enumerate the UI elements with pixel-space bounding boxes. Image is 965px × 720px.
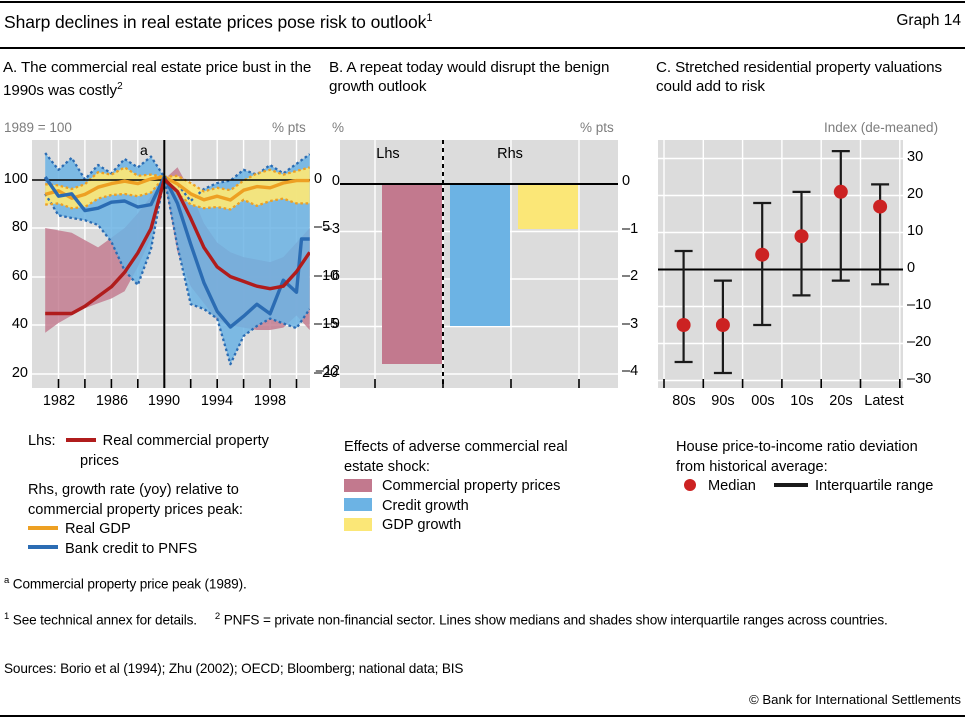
- panel-b-right-tick-3: –3: [622, 316, 658, 332]
- panel-b-left-tick-2: –6: [312, 268, 340, 284]
- footnote-sources: Sources: Borio et al (1994); Zhu (2002);…: [4, 660, 954, 678]
- legend-a-rhs-heading-2: commercial property prices peak:: [28, 501, 328, 521]
- panel-a-x-label-0: 1982: [33, 393, 85, 409]
- panel-c-right-tick-0: 30: [907, 149, 959, 165]
- panel-b-title: B. A repeat today would disrupt the beni…: [329, 58, 643, 96]
- bottom-rule: [0, 715, 965, 717]
- panel-a-x-label-4: 1998: [244, 393, 296, 409]
- footnote-2-text: PNFS = private non-financial sector. Lin…: [224, 613, 888, 628]
- panel-b-legend: Effects of adverse commercial real estat…: [344, 438, 644, 536]
- legend-a-item-credit: Bank credit to PNFS: [28, 540, 328, 560]
- panel-a-legend: Lhs: Real commercial property prices Rhs…: [28, 432, 328, 559]
- panel-a-left-tick-1: 80: [0, 219, 28, 235]
- panel-b-right-tick-1: –1: [622, 221, 658, 237]
- legend-a-credit-line-icon: [28, 545, 58, 549]
- footnote-1-text: See technical annex for details.: [13, 613, 197, 628]
- panel-b-left-tick-4: –12: [304, 363, 340, 379]
- panel-b-left-tick-3: –9: [312, 316, 340, 332]
- panel-c-median-90s: [716, 318, 730, 332]
- panel-a-left-tick-2: 60: [0, 268, 28, 284]
- legend-c-iqr-label: Interquartile range: [815, 478, 933, 494]
- panel-c-median-80s: [677, 318, 691, 332]
- footnote-a-marker: a: [4, 575, 9, 586]
- page-title-superscript: 1: [426, 12, 432, 24]
- panel-c-right-tick-6: –30: [907, 371, 959, 387]
- legend-c-iqr-line-icon: [774, 483, 808, 487]
- panel-c-title: C. Stretched residential property valuat…: [656, 58, 964, 96]
- legend-b-gdp-growth-swatch-icon: [344, 518, 372, 531]
- legend-a-gdp-label: Real GDP: [65, 521, 131, 537]
- panel-b-bar-gdp-growth: [518, 184, 578, 229]
- panel-a-left-tick-3: 40: [0, 316, 28, 332]
- panel-a-title-text: A. The commercial real estate price bust…: [3, 59, 311, 99]
- legend-a-lhs-row: Lhs: Real commercial property: [28, 432, 328, 452]
- panel-a-plot: [32, 140, 310, 388]
- page-title-text: Sharp declines in real estate prices pos…: [4, 12, 426, 32]
- legend-b-item-credit-growth: Credit growth: [344, 497, 644, 517]
- legend-b-property-prices-label: Commercial property prices: [382, 478, 560, 494]
- panel-c-median-00s: [755, 248, 769, 262]
- legend-b-heading-1: Effects of adverse commercial real: [344, 438, 644, 458]
- legend-c-heading-2: from historical average:: [676, 458, 965, 478]
- panel-c-median-20s: [834, 185, 848, 199]
- panel-c-right-tick-5: –20: [907, 334, 959, 350]
- legend-c-items: Median Interquartile range: [676, 477, 965, 497]
- graph-number: Graph 14: [896, 12, 961, 30]
- panel-b-right-axis-label: % pts: [580, 120, 614, 135]
- panel-b-right-tick-4: –4: [622, 363, 658, 379]
- panel-c-right-tick-3: 0: [907, 260, 959, 276]
- legend-b-item-property-prices: Commercial property prices: [344, 477, 644, 497]
- panel-c-median-latest: [873, 200, 887, 214]
- panel-c-x-label-5: Latest: [851, 393, 917, 409]
- panel-b-group-label-lhs: Lhs: [358, 146, 418, 162]
- panel-a-left-axis-label: 1989 = 100: [4, 120, 72, 135]
- panel-a-x-label-2: 1990: [138, 393, 190, 409]
- footnote-a-text: Commercial property price peak (1989).: [13, 577, 247, 592]
- legend-a-rhs-heading-1: Rhs, growth rate (yoy) relative to: [28, 481, 328, 501]
- panel-b-left-tick-0: 0: [322, 173, 340, 189]
- panel-c-right-tick-1: 20: [907, 186, 959, 202]
- panel-b-left-axis-label: %: [332, 120, 344, 135]
- panel-b-right-tick-2: –2: [622, 268, 658, 284]
- legend-b-gdp-growth-label: GDP growth: [382, 517, 461, 533]
- panel-a-left-tick-0: 100: [0, 171, 28, 187]
- panel-b-plot: [340, 140, 618, 388]
- legend-a-lhs-prefix: Lhs:: [28, 433, 56, 449]
- panel-b-left-tick-1: –3: [312, 221, 340, 237]
- legend-b-property-prices-swatch-icon: [344, 479, 372, 492]
- top-rule: [0, 1, 965, 3]
- panel-a-right-axis-label: % pts: [272, 120, 306, 135]
- legend-c-heading-1: House price-to-income ratio deviation: [676, 438, 965, 458]
- panel-a-left-tick-4: 20: [0, 365, 28, 381]
- legend-c-median-dot-icon: [684, 479, 696, 491]
- panel-c-whisker-10s: [793, 192, 811, 296]
- panel-c-svg: [658, 140, 903, 388]
- legend-a-lhs-row-2: prices: [28, 452, 328, 472]
- header: Sharp declines in real estate prices pos…: [0, 8, 965, 44]
- panel-c-right-tick-2: 10: [907, 223, 959, 239]
- legend-a-item-gdp: Real GDP: [28, 520, 328, 540]
- panel-c-median-10s: [795, 229, 809, 243]
- footnote-a: a Commercial property price peak (1989).: [4, 572, 954, 594]
- copyright-notice: © Bank for International Settlements: [749, 692, 961, 707]
- panel-c-legend: House price-to-income ratio deviation fr…: [676, 438, 965, 497]
- panel-a-title-superscript: 2: [117, 81, 122, 92]
- panel-c-right-axis-label: Index (de-meaned): [824, 120, 938, 135]
- panel-a-svg: [32, 140, 310, 388]
- legend-b-credit-growth-label: Credit growth: [382, 498, 469, 514]
- legend-a-spacer: [28, 471, 328, 481]
- panel-b-group-label-rhs: Rhs: [480, 146, 540, 162]
- panel-a-x-label-3: 1994: [191, 393, 243, 409]
- panel-c-right-tick-4: –10: [907, 297, 959, 313]
- legend-a-credit-label: Bank credit to PNFS: [65, 541, 197, 557]
- panel-b-right-tick-0: 0: [622, 173, 658, 189]
- legend-c-median-label: Median: [708, 478, 756, 494]
- panel-c-gridlines: [658, 140, 903, 388]
- header-rule: [0, 47, 965, 49]
- legend-b-credit-growth-swatch-icon: [344, 498, 372, 511]
- panel-b-bar-property-prices: [382, 184, 442, 364]
- footnote-1-marker: 1: [4, 611, 9, 622]
- panel-b-svg: [340, 140, 618, 388]
- page-title: Sharp declines in real estate prices pos…: [4, 12, 432, 33]
- panel-b-bar-credit-growth: [450, 184, 510, 326]
- panel-a-title: A. The commercial real estate price bust…: [3, 58, 317, 100]
- legend-a-property-prices-label: Real commercial property: [103, 433, 269, 449]
- legend-a-gdp-line-icon: [28, 526, 58, 530]
- legend-b-item-gdp-growth: GDP growth: [344, 516, 644, 536]
- graph-page: Sharp declines in real estate prices pos…: [0, 0, 965, 720]
- legend-a-property-prices-label-2: prices: [80, 453, 119, 469]
- panel-a-x-label-1: 1986: [86, 393, 138, 409]
- footnote-notes: 1 See technical annex for details.2 PNFS…: [4, 608, 959, 630]
- footnote-2-marker: 2: [215, 611, 220, 622]
- panel-c-whisker-20s: [832, 151, 850, 281]
- panel-c-plot: [658, 140, 903, 388]
- panel-a-x-tickmarks: [59, 379, 297, 388]
- legend-a-property-prices-line-icon: [66, 438, 96, 442]
- panel-b-x-tickmarks: [375, 379, 579, 388]
- panel-a-peak-annotation: a: [140, 142, 148, 158]
- legend-b-heading-2: estate shock:: [344, 458, 644, 478]
